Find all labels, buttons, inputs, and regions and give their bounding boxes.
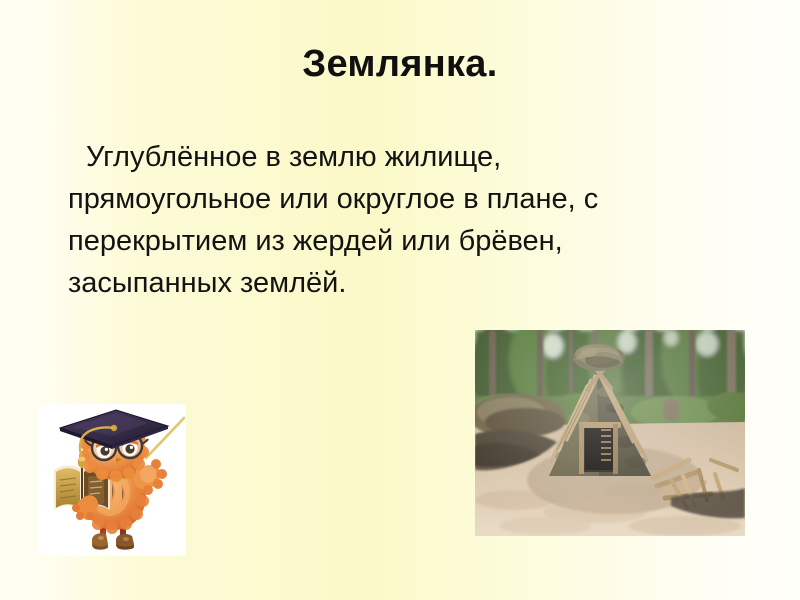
slide-canvas: Землянка. Углублённое в землю жилище, пр… [0,0,800,600]
dugout-photo-artwork [475,330,745,536]
owl-mascot-artwork [38,404,186,556]
owl-professor-mascot [38,404,186,556]
body-paragraph: Углублённое в землю жилище, прямоугольно… [68,136,708,304]
dugout-shelter-photo [475,330,745,536]
page-title: Землянка. [0,44,800,86]
owl-shoes [92,533,134,549]
